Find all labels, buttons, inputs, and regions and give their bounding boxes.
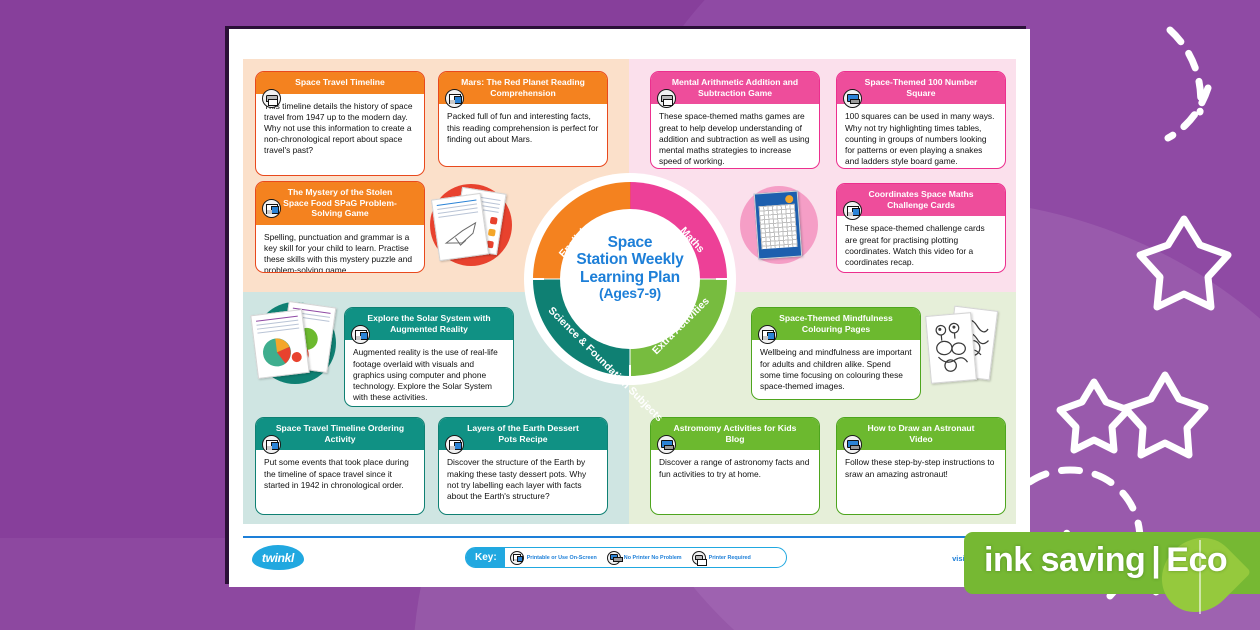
no-printer-no-problem-icon	[843, 435, 862, 454]
resource-card[interactable]: Space-Themed 100 Number Square 100 squar…	[836, 71, 1006, 169]
card-title: Space-Themed Mindfulness Colouring Pages	[752, 308, 920, 340]
legend-item-printer-required: Printer Required	[687, 551, 756, 565]
poster-title: Space Station Weekly Learning Plan (Ages…	[553, 234, 707, 302]
resource-card[interactable]: Layers of the Earth Dessert Pots Recipe …	[438, 417, 608, 515]
eco-text-sub: Eco	[1166, 541, 1227, 579]
ink-saving-eco-badge: ink saving|Eco	[964, 532, 1260, 594]
resource-card[interactable]: Astromomy Activities for Kids Blog Disco…	[650, 417, 820, 515]
legend-item-label: No Printer No Problem	[624, 555, 682, 561]
card-description: 100 squares can be used in many ways. Wh…	[837, 104, 1005, 169]
title-line-1: Space	[553, 234, 707, 251]
card-description: Spelling, punctuation and grammar is a k…	[256, 225, 424, 273]
no-printer-no-problem-icon	[843, 89, 862, 108]
printable-or-use-on-screen-icon	[445, 89, 464, 108]
thumbnail-100-number-square	[740, 186, 822, 268]
thumbnail-solar-system-worksheets	[250, 300, 350, 386]
card-title: Space-Themed 100 Number Square	[837, 72, 1005, 104]
resource-card[interactable]: Space Travel Timeline This timeline deta…	[255, 71, 425, 176]
eco-text-separator: |	[1151, 541, 1160, 579]
resource-card[interactable]: Space-Themed Mindfulness Colouring Pages…	[751, 307, 921, 400]
card-description: Wellbeing and mindfulness are important …	[752, 340, 920, 399]
card-description: Discover a range of astronomy facts and …	[651, 450, 819, 487]
card-description: This timeline details the history of spa…	[256, 94, 424, 164]
printable-or-use-on-screen-icon	[262, 435, 281, 454]
twinkl-logo[interactable]: twinkl	[252, 545, 304, 570]
title-line-3: Learning Plan	[553, 269, 707, 286]
resource-card[interactable]: Mars: The Red Planet Reading Comprehensi…	[438, 71, 608, 167]
thumbnail-mindfulness-colouring	[928, 306, 998, 386]
card-title: Explore the Solar System with Augmented …	[345, 308, 513, 340]
card-description: Discover the structure of the Earth by m…	[439, 450, 607, 509]
printable-or-use-on-screen-icon	[758, 325, 777, 344]
no-printer-no-problem-icon	[607, 551, 621, 565]
printable-or-use-on-screen-icon	[445, 435, 464, 454]
legend-item-label: Printer Required	[709, 555, 751, 561]
subject-wheel-ring: English Maths Extra Activities Science &…	[533, 182, 727, 376]
card-description: These space-themed maths games are great…	[651, 104, 819, 169]
legend-key: Key: Printable or Use On-Screen No Print…	[465, 547, 787, 568]
card-description: Follow these step-by-step instructions t…	[837, 450, 1005, 487]
resource-card[interactable]: Mental Arithmetic Addition and Subtracti…	[650, 71, 820, 169]
printable-or-use-on-screen-icon	[351, 325, 370, 344]
card-description: Packed full of fun and interesting facts…	[439, 104, 607, 152]
title-line-2: Station Weekly	[553, 251, 707, 268]
eco-badge-text: ink saving|Eco	[984, 541, 1250, 580]
printable-or-use-on-screen-icon	[510, 551, 524, 565]
thumbnail-space-travel-worksheets	[427, 182, 519, 272]
legend-item-printable-or-use-on-screen: Printable or Use On-Screen	[505, 551, 602, 565]
card-description: Put some events that took place during t…	[256, 450, 424, 498]
printable-or-use-on-screen-icon	[843, 201, 862, 220]
no-printer-no-problem-icon	[657, 435, 676, 454]
card-description: Augmented reality is the use of real-lif…	[345, 340, 513, 407]
resource-card[interactable]: How to Draw an Astronaut Video Follow th…	[836, 417, 1006, 515]
card-description: These space-themed challenge cards are g…	[837, 216, 1005, 273]
card-title: Mars: The Red Planet Reading Comprehensi…	[439, 72, 607, 104]
printer-required-icon	[657, 89, 676, 108]
card-title: Coordinates Space Maths Challenge Cards	[837, 184, 1005, 216]
card-title: Space Travel Timeline	[256, 72, 424, 94]
legend-item-label: Printable or Use On-Screen	[527, 555, 597, 561]
resource-card[interactable]: Space Travel Timeline Ordering Activity …	[255, 417, 425, 515]
card-title: The Mystery of the Stolen Space Food SPa…	[256, 182, 424, 225]
card-title: Space Travel Timeline Ordering Activity	[256, 418, 424, 450]
resource-card[interactable]: Coordinates Space Maths Challenge Cards …	[836, 183, 1006, 273]
resource-card[interactable]: The Mystery of the Stolen Space Food SPa…	[255, 181, 425, 273]
card-title: Astromomy Activities for Kids Blog	[651, 418, 819, 450]
card-title: Layers of the Earth Dessert Pots Recipe	[439, 418, 607, 450]
legend-item-no-printer-no-problem: No Printer No Problem	[602, 551, 687, 565]
eco-text-main: ink saving	[984, 541, 1145, 579]
footer-divider	[243, 536, 1016, 538]
subject-wheel: English Maths Extra Activities Science &…	[524, 173, 736, 385]
printer-required-icon	[262, 89, 281, 108]
printable-or-use-on-screen-icon	[262, 199, 281, 218]
title-age-range: (Ages7-9)	[553, 286, 707, 302]
card-title: Mental Arithmetic Addition and Subtracti…	[651, 72, 819, 104]
legend-key-label: Key:	[466, 548, 505, 567]
resource-card[interactable]: Explore the Solar System with Augmented …	[344, 307, 514, 407]
printer-required-icon	[692, 551, 706, 565]
card-title: How to Draw an Astronaut Video	[837, 418, 1005, 450]
twinkl-wordmark: twinkl	[252, 545, 304, 570]
